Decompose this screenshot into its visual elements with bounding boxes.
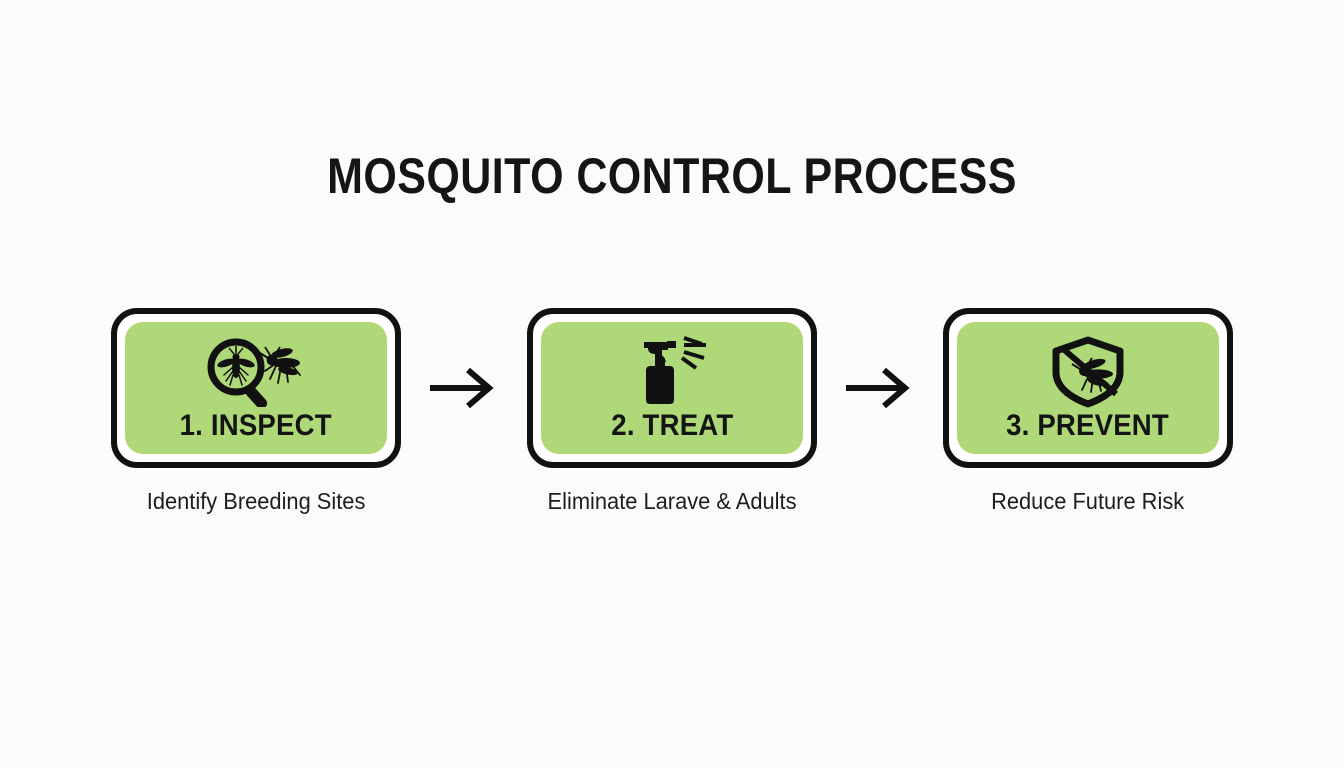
step-caption: Reduce Future Risk	[991, 488, 1184, 514]
spray-bottle-icon	[622, 336, 722, 408]
step-caption: Eliminate Larave & Adults	[548, 488, 797, 514]
process-step-prevent[interactable]: 3. PREVENT Reduce Future Risk	[942, 308, 1234, 514]
step-card-frame[interactable]: 3. PREVENT	[943, 308, 1233, 468]
step-card-panel: 1. INSPECT	[125, 322, 387, 454]
process-steps-row: 1. INSPECT Identify Breeding Sites	[110, 308, 1234, 528]
process-step-inspect[interactable]: 1. INSPECT Identify Breeding Sites	[110, 308, 402, 514]
arrow-right-icon	[824, 308, 936, 468]
infographic-canvas: MOSQUITO CONTROL PROCESS	[0, 0, 1344, 768]
magnifier-mosquito-icon	[202, 336, 310, 408]
step-card-panel: 2. TREAT	[541, 322, 803, 454]
arrow-right-icon	[408, 308, 520, 468]
shield-mosquito-icon	[1046, 336, 1130, 408]
page-title: MOSQUITO CONTROL PROCESS	[94, 150, 1250, 202]
step-card-frame[interactable]: 1. INSPECT	[111, 308, 401, 468]
step-card-frame[interactable]: 2. TREAT	[527, 308, 817, 468]
step-label: 2. TREAT	[611, 410, 733, 442]
process-step-treat[interactable]: 2. TREAT Eliminate Larave & Adults	[526, 308, 818, 514]
step-card-panel: 3. PREVENT	[957, 322, 1219, 454]
step-label: 3. PREVENT	[1007, 410, 1170, 442]
step-label: 1. INSPECT	[180, 410, 332, 442]
step-caption: Identify Breeding Sites	[147, 488, 366, 514]
